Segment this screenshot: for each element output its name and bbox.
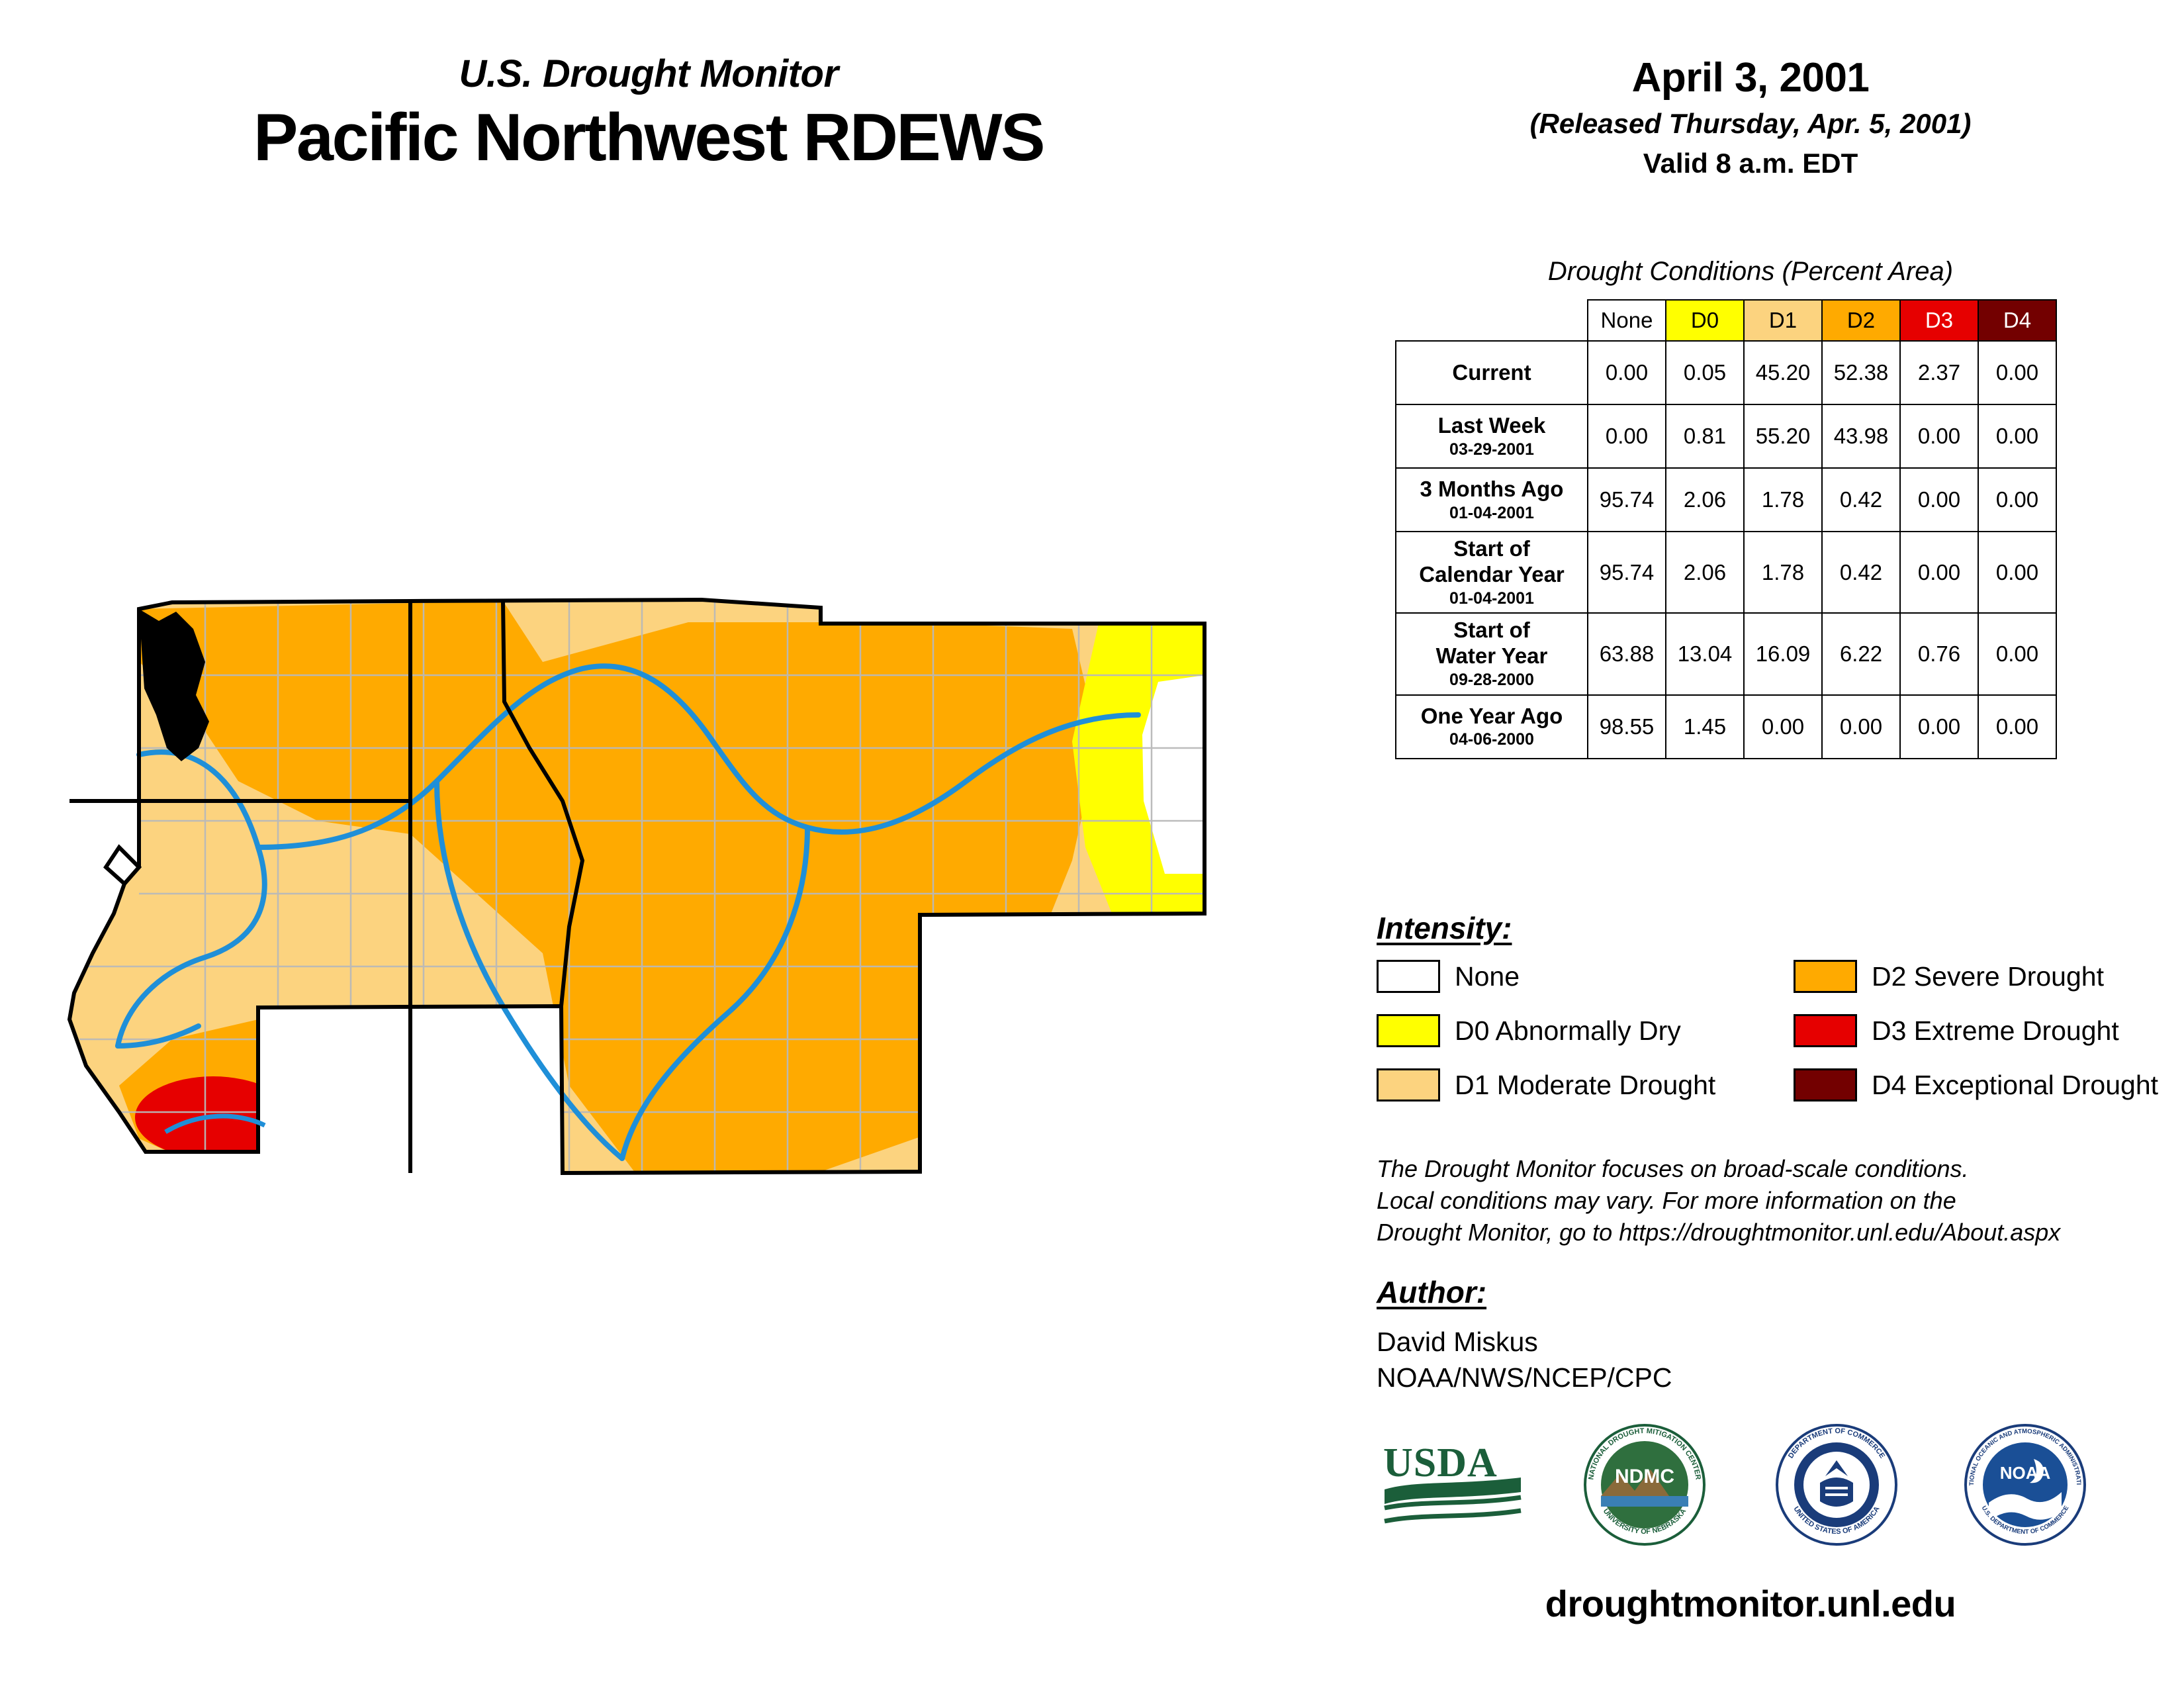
legend-item-none: None — [1377, 960, 1520, 993]
table-caption: Drought Conditions (Percent Area) — [1343, 257, 2158, 287]
legend-label-d4: D4 Exceptional Drought — [1872, 1070, 2158, 1101]
table-cell-d3: 2.37 — [1900, 341, 1978, 404]
author-heading: Author: — [1377, 1274, 1486, 1310]
map-date: April 3, 2001 — [1343, 54, 2158, 101]
column-header-d2: D2 — [1822, 300, 1900, 341]
row-label-main: Start ofCalendar Year — [1419, 536, 1565, 586]
svg-text:NDMC: NDMC — [1615, 1466, 1674, 1487]
table-cell-d3: 0.00 — [1900, 468, 1978, 532]
table-row: Last Week03-29-20010.000.8155.2043.980.0… — [1396, 404, 2056, 468]
row-label-main: One Year Ago — [1421, 704, 1563, 728]
table-row: Current0.000.0545.2052.382.370.00 — [1396, 341, 2056, 404]
row-label-date: 01-04-2001 — [1399, 589, 1584, 609]
usda-logo: USDA — [1377, 1429, 1529, 1544]
table-cell-d1: 16.09 — [1744, 613, 1822, 694]
valid-time: Valid 8 a.m. EDT — [1343, 148, 2158, 179]
column-header-d0: D0 — [1666, 300, 1744, 341]
column-header-none: None — [1588, 300, 1666, 341]
legend-swatch-d1 — [1377, 1068, 1440, 1102]
table-row-label: One Year Ago04-06-2000 — [1396, 695, 1588, 759]
table-row: Start ofWater Year09-28-200063.8813.0416… — [1396, 613, 2056, 694]
column-header-d4: D4 — [1978, 300, 2056, 341]
column-header-d3: D3 — [1900, 300, 1978, 341]
drought-monitor-page: U.S. Drought Monitor Pacific Northwest R… — [0, 0, 2184, 1688]
ndmc-logo: NDMC NATIONAL DROUGHT MITIGATION CENTER … — [1582, 1422, 1707, 1551]
row-label-date: 09-28-2000 — [1399, 671, 1584, 690]
drought-map — [40, 583, 1324, 1284]
table-cell-d0: 2.06 — [1666, 532, 1744, 613]
row-label-date: 01-04-2001 — [1399, 504, 1584, 524]
row-label-main: 3 Months Ago — [1420, 477, 1564, 501]
table-cell-d0: 1.45 — [1666, 695, 1744, 759]
date-block: April 3, 2001 (Released Thursday, Apr. 5… — [1343, 54, 2158, 179]
table-row: 3 Months Ago01-04-200195.742.061.780.420… — [1396, 468, 2056, 532]
logo-row: USDA NDMC NATIONAL DROUGHT MITI — [1363, 1417, 2151, 1549]
row-label-date: 03-29-2001 — [1399, 440, 1584, 460]
table-row-label: Current — [1396, 341, 1588, 404]
legend-label-d3: D3 Extreme Drought — [1872, 1015, 2119, 1047]
table-row-label: Start ofCalendar Year01-04-2001 — [1396, 532, 1588, 613]
title-block: U.S. Drought Monitor Pacific Northwest R… — [0, 52, 1297, 176]
author-affiliation: NOAA/NWS/NCEP/CPC — [1377, 1360, 1672, 1395]
table-cell-d0: 13.04 — [1666, 613, 1744, 694]
legend-item-d1: D1 Moderate Drought — [1377, 1068, 1715, 1102]
author-block: David Miskus NOAA/NWS/NCEP/CPC — [1377, 1324, 1672, 1395]
table-cell-d4: 0.00 — [1978, 468, 2056, 532]
table-cell-d4: 0.00 — [1978, 404, 2056, 468]
table-row-label: 3 Months Ago01-04-2001 — [1396, 468, 1588, 532]
table-cell-d3: 0.76 — [1900, 613, 1978, 694]
legend-item-d0: D0 Abnormally Dry — [1377, 1014, 1681, 1047]
footer-url[interactable]: droughtmonitor.unl.edu — [1343, 1582, 2158, 1625]
table-cell-d1: 55.20 — [1744, 404, 1822, 468]
row-label-main: Current — [1452, 360, 1531, 385]
column-header-d1: D1 — [1744, 300, 1822, 341]
table-row: One Year Ago04-06-200098.551.450.000.000… — [1396, 695, 2056, 759]
table-cell-d2: 0.42 — [1822, 532, 1900, 613]
table-header: None D0 D1 D2 D3 D4 — [1396, 300, 2056, 341]
table-cell-d1: 45.20 — [1744, 341, 1822, 404]
author-name: David Miskus — [1377, 1324, 1672, 1360]
page-title: Pacific Northwest RDEWS — [0, 100, 1297, 176]
legend-item-d3: D3 Extreme Drought — [1794, 1014, 2119, 1047]
svg-text:USDA: USDA — [1383, 1440, 1498, 1485]
legend-swatch-d2 — [1794, 960, 1857, 993]
table-cell-none: 0.00 — [1588, 404, 1666, 468]
table-cell-none: 95.74 — [1588, 532, 1666, 613]
map-drought-layers — [40, 583, 1324, 1284]
release-date: (Released Thursday, Apr. 5, 2001) — [1343, 108, 2158, 140]
table-cell-d0: 0.05 — [1666, 341, 1744, 404]
table-body: Current0.000.0545.2052.382.370.00Last We… — [1396, 341, 2056, 759]
table-header-row: None D0 D1 D2 D3 D4 — [1396, 300, 2056, 341]
table-cell-d2: 0.42 — [1822, 468, 1900, 532]
legend-label-d0: D0 Abnormally Dry — [1455, 1015, 1681, 1047]
svg-text:NOAA: NOAA — [2000, 1463, 2051, 1483]
page-subtitle: U.S. Drought Monitor — [0, 52, 1297, 96]
row-label-date: 04-06-2000 — [1399, 730, 1584, 750]
table-cell-none: 98.55 — [1588, 695, 1666, 759]
table-row-label: Start ofWater Year09-28-2000 — [1396, 613, 1588, 694]
legend-swatch-d4 — [1794, 1068, 1857, 1102]
table-cell-none: 95.74 — [1588, 468, 1666, 532]
table-cell-none: 63.88 — [1588, 613, 1666, 694]
legend-item-d4: D4 Exceptional Drought — [1794, 1068, 2158, 1102]
legend-label-d2: D2 Severe Drought — [1872, 961, 2104, 992]
table-cell-d3: 0.00 — [1900, 695, 1978, 759]
legend-swatch-d0 — [1377, 1014, 1440, 1047]
legend-label-d1: D1 Moderate Drought — [1455, 1070, 1715, 1101]
table-row-label: Last Week03-29-2001 — [1396, 404, 1588, 468]
table-cell-d2: 52.38 — [1822, 341, 1900, 404]
drought-conditions-table: None D0 D1 D2 D3 D4 Current0.000.0545.20… — [1395, 299, 2057, 759]
table-cell-none: 0.00 — [1588, 341, 1666, 404]
legend-item-d2: D2 Severe Drought — [1794, 960, 2104, 993]
table-cell-d4: 0.00 — [1978, 341, 2056, 404]
table-cell-d2: 0.00 — [1822, 695, 1900, 759]
commerce-logo: DEPARTMENT OF COMMERCE UNITED STATES OF … — [1774, 1422, 1899, 1551]
table-cell-d4: 0.00 — [1978, 695, 2056, 759]
row-label-main: Start ofWater Year — [1436, 618, 1548, 668]
legend-label-none: None — [1455, 961, 1520, 992]
table-cell-d4: 0.00 — [1978, 613, 2056, 694]
table-cell-d0: 2.06 — [1666, 468, 1744, 532]
table-cell-d1: 0.00 — [1744, 695, 1822, 759]
legend-swatch-none — [1377, 960, 1440, 993]
table-cell-d0: 0.81 — [1666, 404, 1744, 468]
table-row: Start ofCalendar Year01-04-200195.742.06… — [1396, 532, 2056, 613]
legend-swatch-d3 — [1794, 1014, 1857, 1047]
noaa-logo: NOAA NATIONAL OCEANIC AND ATMOSPHERIC AD… — [1962, 1422, 2088, 1551]
row-label-main: Last Week — [1438, 413, 1546, 438]
map-svg — [40, 583, 1324, 1284]
table-cell-d3: 0.00 — [1900, 404, 1978, 468]
table-cell-d3: 0.00 — [1900, 532, 1978, 613]
table-cell-d1: 1.78 — [1744, 532, 1822, 613]
table-cell-d2: 6.22 — [1822, 613, 1900, 694]
disclaimer-text: The Drought Monitor focuses on broad-sca… — [1377, 1153, 2158, 1248]
table-cell-d4: 0.00 — [1978, 532, 2056, 613]
intensity-heading: Intensity: — [1377, 910, 1512, 946]
table-corner-cell — [1396, 300, 1588, 341]
table-cell-d1: 1.78 — [1744, 468, 1822, 532]
table-cell-d2: 43.98 — [1822, 404, 1900, 468]
